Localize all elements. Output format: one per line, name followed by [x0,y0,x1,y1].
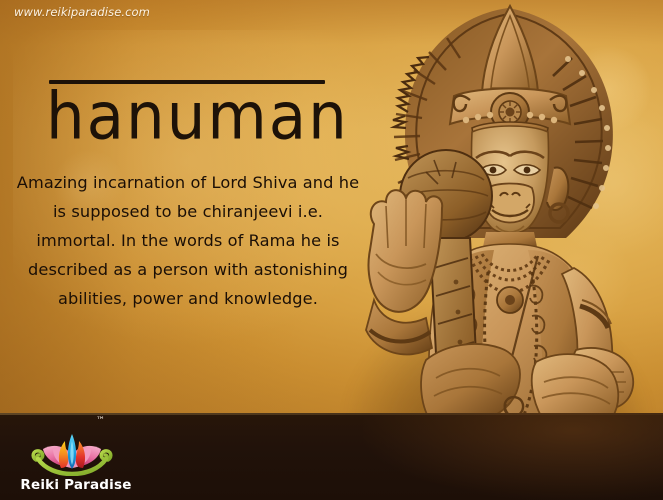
hanuman-poster: www.reikiparadise.com hanuman Amazing in… [0,0,663,500]
title-text: hanuman [46,74,346,149]
brand-name: Reiki Paradise [16,477,136,493]
footer-bar: ™ [0,413,663,500]
footer-glow [363,413,663,500]
reiki-paradise-logo[interactable]: ™ [16,416,136,494]
lotus-flame-icon [30,424,114,476]
page-title: hanuman [46,74,346,145]
site-url[interactable]: www.reikiparadise.com [14,5,150,19]
description-paragraph: Amazing incarnation of Lord Shiva and he… [12,168,364,313]
